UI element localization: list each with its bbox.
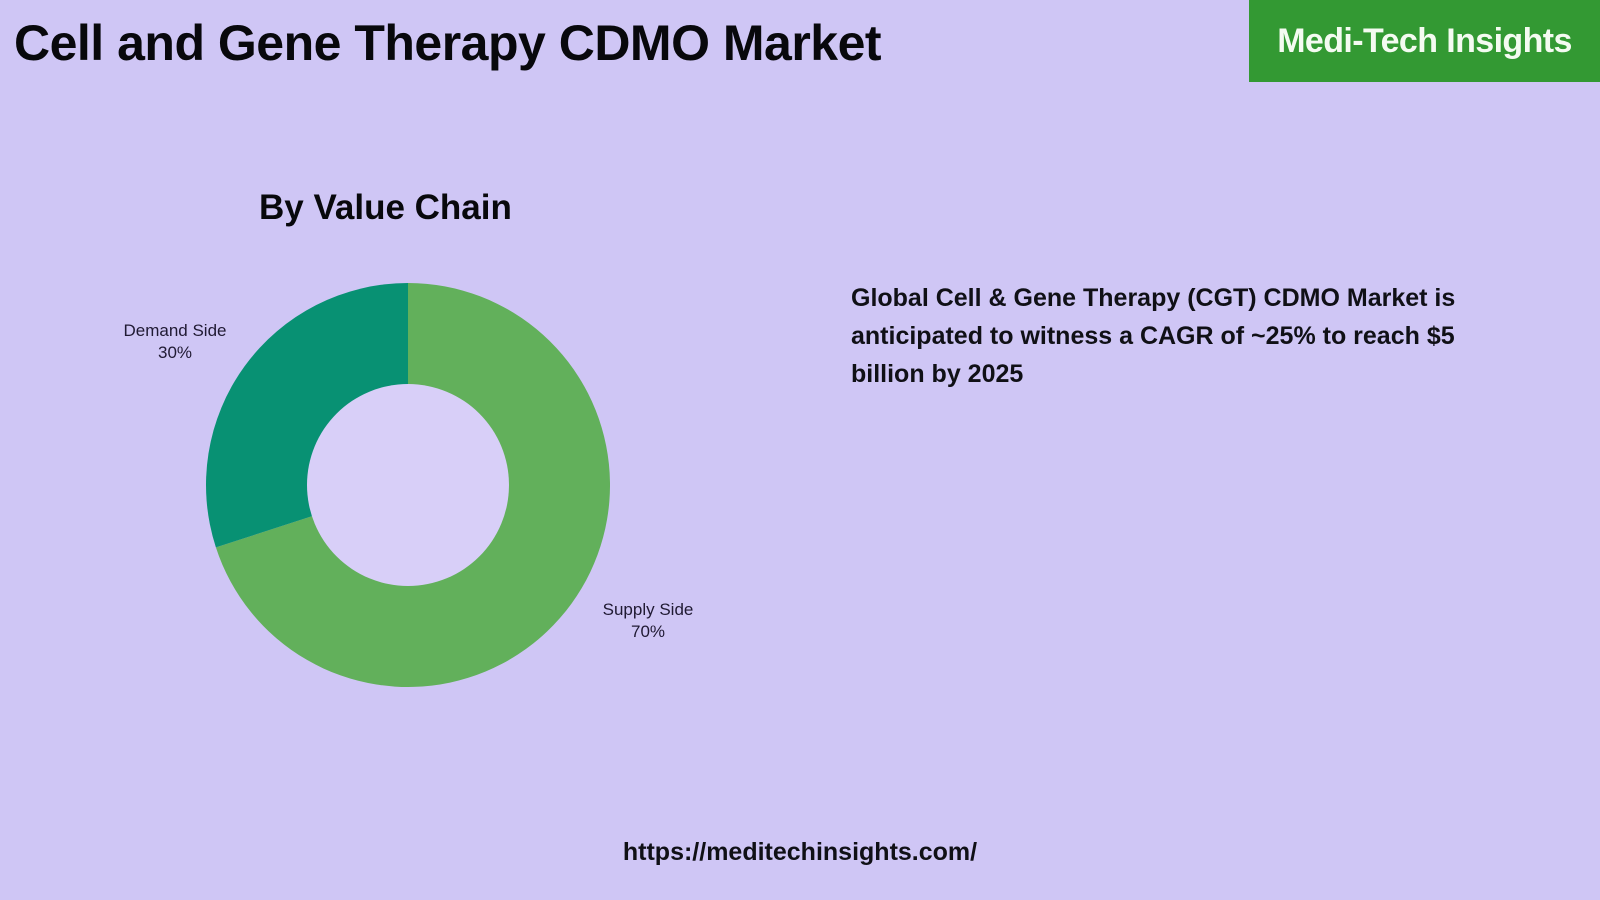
slice-label-supply-side-name: Supply Side <box>583 599 713 621</box>
slice-label-demand-side: Demand Side 30% <box>110 320 240 364</box>
donut-hole <box>307 384 509 586</box>
value-chain-chart-section: By Value Chain Demand Side 30% Supply Si… <box>0 0 820 900</box>
chart-title: By Value Chain <box>259 188 512 228</box>
slice-label-supply-side-value: 70% <box>583 621 713 643</box>
donut-chart <box>206 283 610 687</box>
donut-chart-svg <box>206 283 610 687</box>
slice-label-demand-side-value: 30% <box>110 342 240 364</box>
market-insight-text: Global Cell & Gene Therapy (CGT) CDMO Ma… <box>851 279 1531 393</box>
slice-label-supply-side: Supply Side 70% <box>583 599 713 643</box>
slice-label-demand-side-name: Demand Side <box>110 320 240 342</box>
footer-url: https://meditechinsights.com/ <box>0 838 1600 867</box>
brand-logo-text: Medi-Tech Insights <box>1277 22 1572 61</box>
brand-logo: Medi-Tech Insights <box>1249 0 1600 82</box>
